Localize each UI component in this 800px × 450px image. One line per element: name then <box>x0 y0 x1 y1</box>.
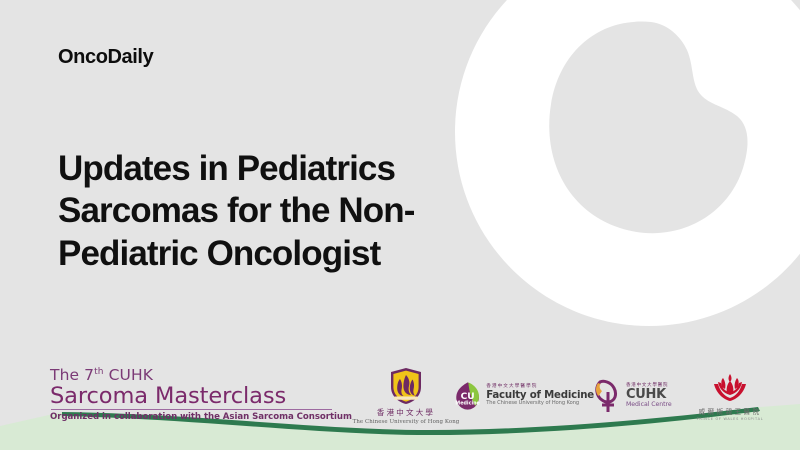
cuhk-medical-centre-english-name: CUHK <box>626 388 672 402</box>
prince-of-wales-english-name: PRINCE OF WALES HOSPITAL <box>697 417 764 421</box>
masterclass-edition-suffix: CUHK <box>109 366 153 384</box>
slide-title: Updates in Pediatrics Sarcomas for the N… <box>58 148 488 275</box>
cuhk-chinese-name: 香港中文大學 <box>377 407 435 418</box>
cuhk-crest-icon <box>388 367 424 405</box>
svg-text:Medicine: Medicine <box>455 400 480 406</box>
oncodaily-brand-logo: OncoDaily <box>58 46 153 69</box>
masterclass-edition-ordinal: th <box>94 367 103 377</box>
partner-logo-cuhk-medical-centre: 香港中文大學醫院 CUHK Medical Centre <box>594 378 690 414</box>
partner-logo-cu-medicine: CU Medicine 香港中文大學醫學院 Faculty of Medicin… <box>454 375 594 417</box>
masterclass-subtitle: Organized in collaboration with the Asia… <box>50 412 340 422</box>
oncodaily-ring-mark-icon <box>455 0 800 326</box>
prince-of-wales-hospital-crest-icon <box>709 372 751 404</box>
partner-logo-strip: 香港中文大學 The Chinese University of Hong Ko… <box>358 366 770 426</box>
cuhk-medical-centre-english-sub: Medical Centre <box>626 402 672 409</box>
masterclass-edition-line: The 7th CUHK <box>50 367 340 385</box>
cu-medicine-leaf-icon: CU Medicine <box>454 375 481 417</box>
partner-logo-prince-of-wales-hospital: 威爾斯親王醫院 PRINCE OF WALES HOSPITAL <box>690 372 770 421</box>
masterclass-divider <box>51 409 332 410</box>
masterclass-edition-prefix: The 7 <box>50 366 94 384</box>
partner-logo-cuhk: 香港中文大學 The Chinese University of Hong Ko… <box>358 367 454 425</box>
cu-medicine-english-sub: The Chinese University of Hong Kong <box>486 401 594 407</box>
prince-of-wales-chinese-name: 威爾斯親王醫院 <box>699 406 762 416</box>
cuhk-medical-centre-ribbon-icon <box>594 378 622 414</box>
presentation-slide: OncoDaily Updates in Pediatrics Sarcomas… <box>0 0 800 450</box>
masterclass-title: Sarcoma Masterclass <box>50 384 340 409</box>
svg-text:CU: CU <box>461 392 475 402</box>
sarcoma-masterclass-lockup: The 7th CUHK Sarcoma Masterclass Organiz… <box>50 367 340 422</box>
cuhk-english-name: The Chinese University of Hong Kong <box>353 419 460 425</box>
